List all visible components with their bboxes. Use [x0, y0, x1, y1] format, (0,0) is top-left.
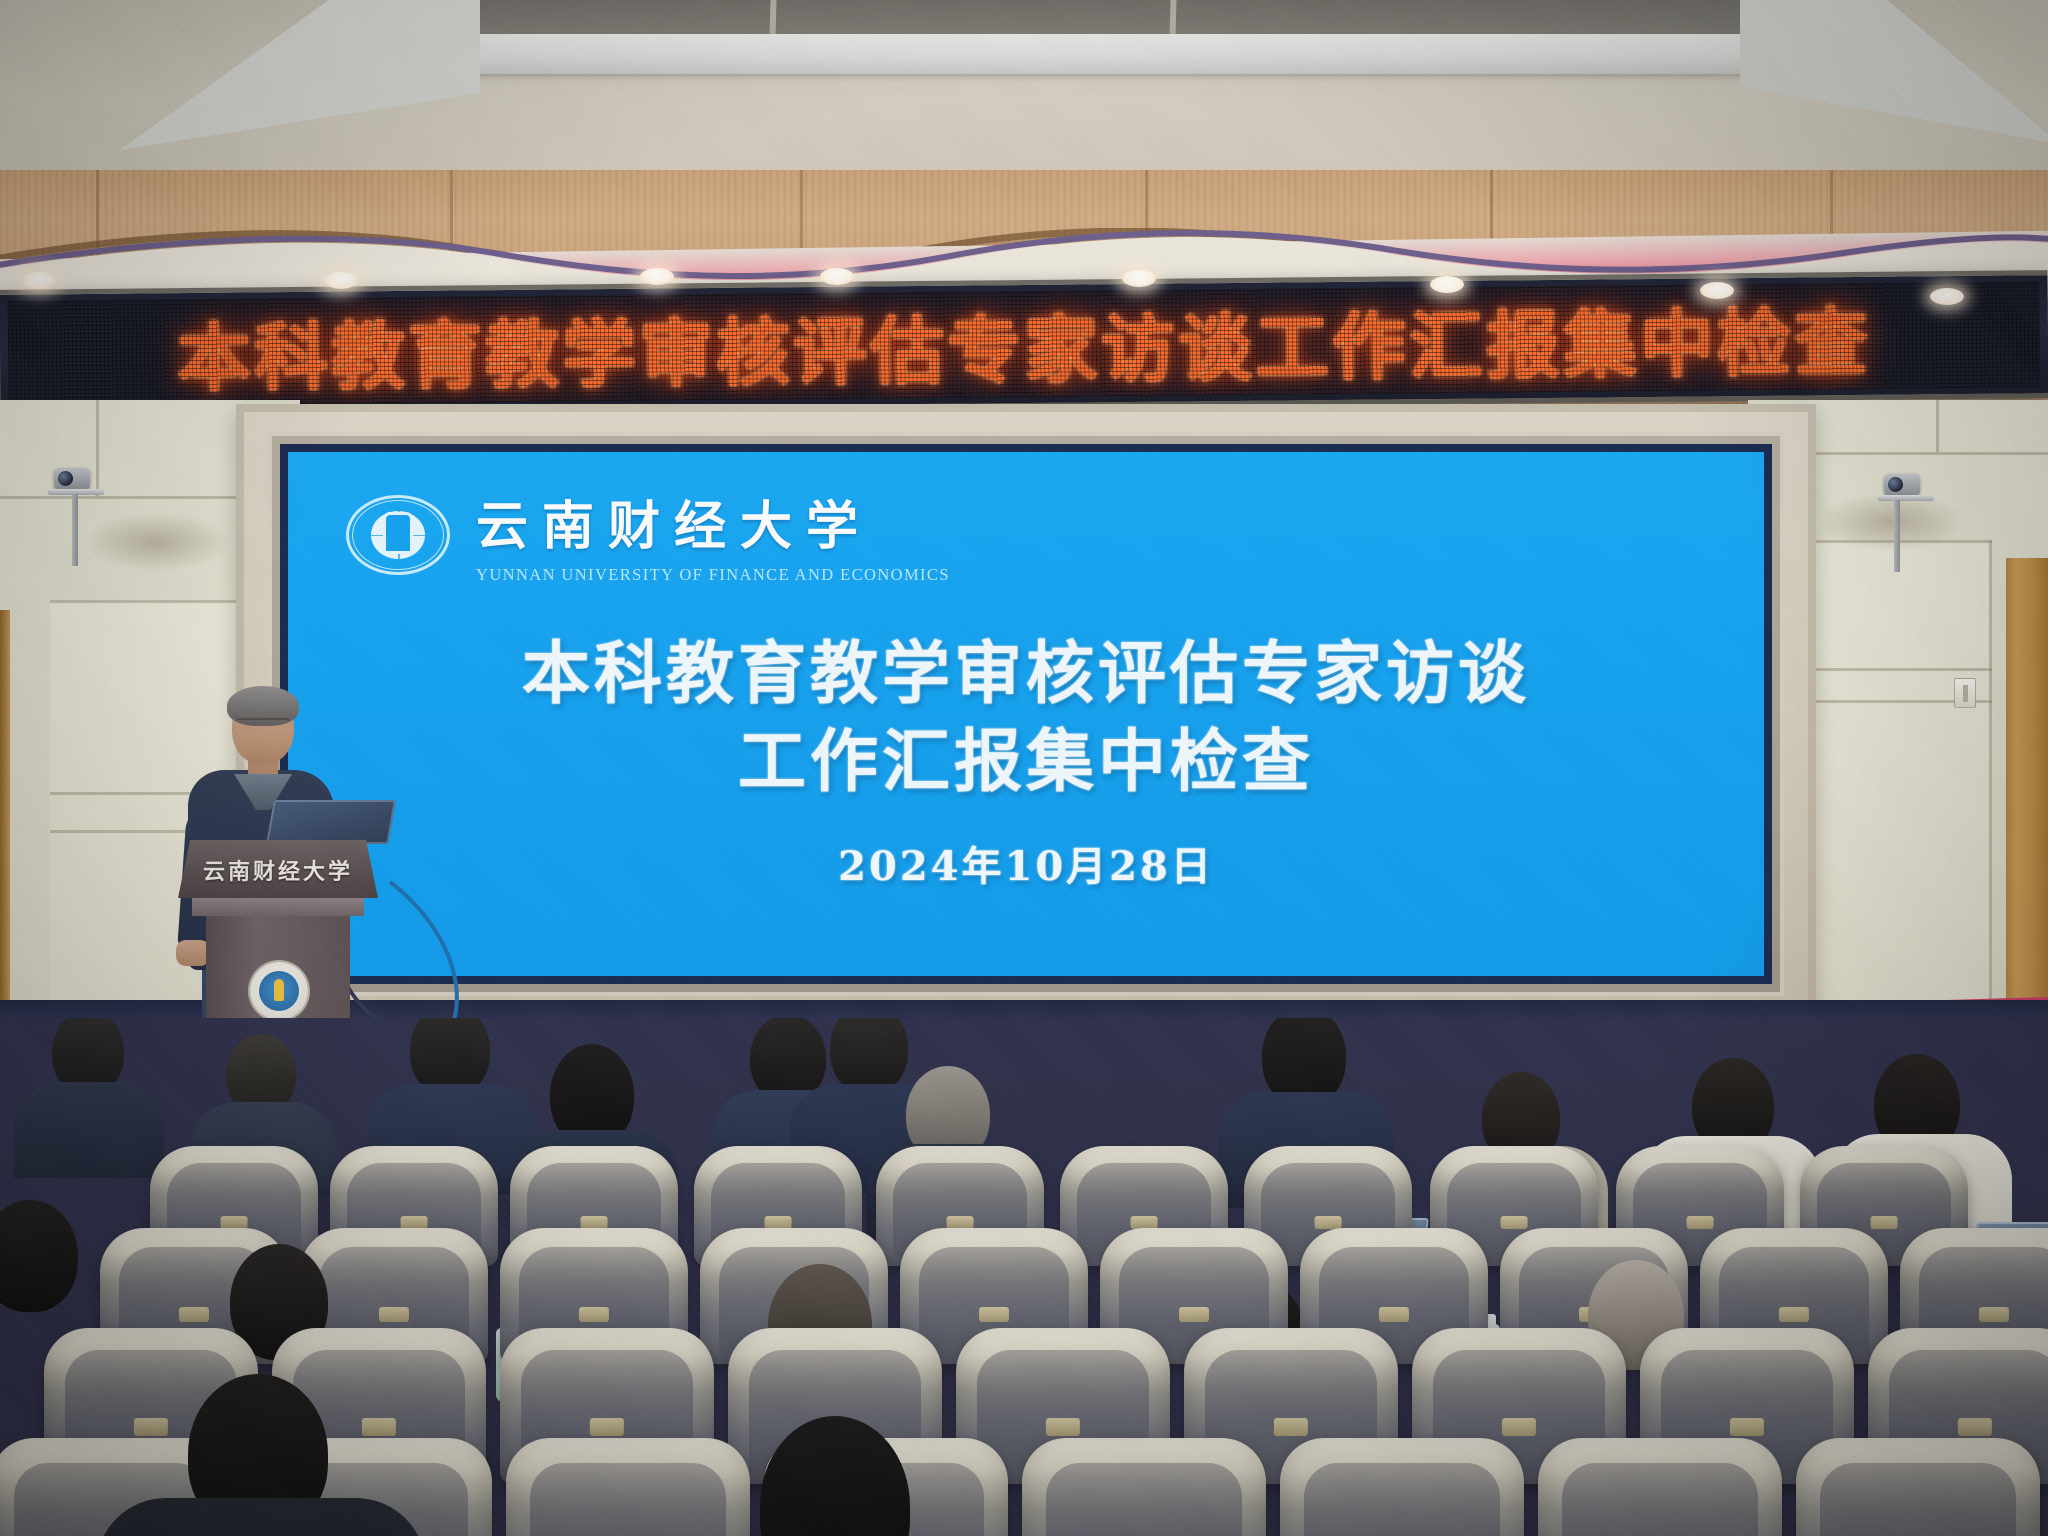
audience-person-body [96, 1498, 426, 1536]
slide-title-line-2: 工作汇报集中检查 [288, 718, 1764, 806]
downlight [640, 268, 674, 285]
seat[interactable] [1538, 1438, 1782, 1536]
downlight [1122, 270, 1156, 287]
wall-light-switch[interactable] [1954, 678, 1976, 708]
downlight [22, 272, 56, 289]
led-banner-text: 本科教育教学审核评估专家访谈工作汇报集中检查 [177, 282, 1872, 405]
audience-person-head [830, 1018, 908, 1094]
slide-title: 本科教育教学审核评估专家访谈 工作汇报集中检查 [288, 630, 1764, 807]
podium-name-plate: 云南财经大学 [178, 854, 378, 886]
downlight [1700, 282, 1734, 299]
seat[interactable] [1796, 1438, 2040, 1536]
downlight [324, 272, 358, 289]
ptz-camera-right [1878, 472, 1934, 506]
logo-english-name: YUNNAN UNIVERSITY OF FINANCE AND ECONOMI… [476, 565, 950, 585]
logo-chinese-name: 云南财经大学 [476, 484, 950, 559]
slide-logo-block: 云南财经大学 YUNNAN UNIVERSITY OF FINANCE AND … [346, 484, 950, 585]
side-door[interactable] [2006, 558, 2048, 1040]
downlight [820, 268, 854, 285]
downlight [1930, 288, 1964, 305]
audience-person-head [0, 1200, 78, 1312]
slide-title-line-1: 本科教育教学审核评估专家访谈 [288, 630, 1764, 718]
ceiling-light-cove [430, 34, 1831, 74]
audience-person-body [14, 1082, 164, 1178]
ceiling-soffit-left [120, 0, 480, 150]
auditorium-photo: 本科教育教学审核评估专家访谈工作汇报集中检查 [0, 0, 2048, 1536]
led-banner-surface: 本科教育教学审核评估专家访谈工作汇报集中检查 [8, 281, 2041, 407]
audience-area [0, 1018, 2048, 1536]
seat[interactable] [1022, 1438, 1266, 1536]
ceiling-soffit-right [1740, 0, 2048, 150]
seat[interactable] [1280, 1438, 1524, 1536]
podium-seal-icon [250, 962, 308, 1020]
led-banner: 本科教育教学审核评估专家访谈工作汇报集中检查 [0, 270, 2048, 418]
university-emblem-icon [346, 495, 450, 575]
seat[interactable] [506, 1438, 750, 1536]
downlight [1430, 276, 1464, 293]
